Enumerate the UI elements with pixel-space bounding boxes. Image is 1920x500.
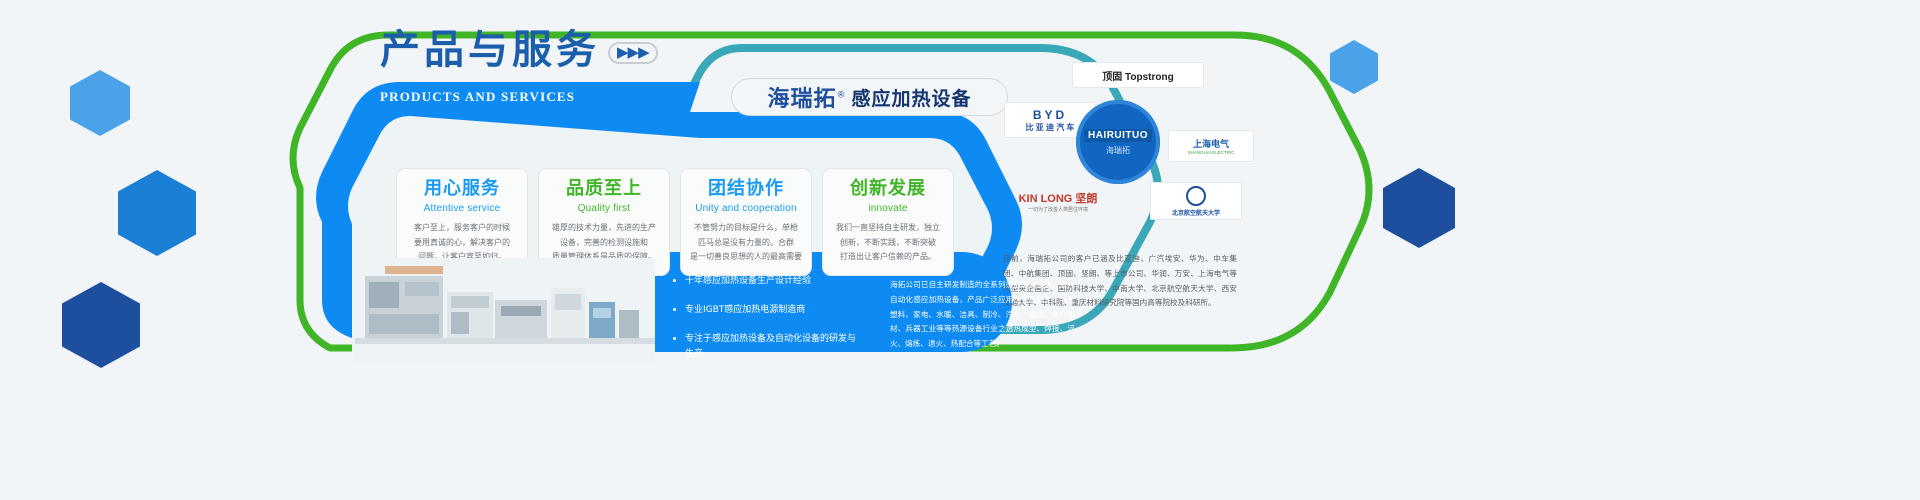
page-title: 产品与服务▶▶▶ <box>380 30 658 70</box>
card-subtitle: Quality first <box>547 203 661 214</box>
feature-card[interactable]: 创新发展 innovate 我们一直坚持自主研发，独立 创新，不断实践，不断突破… <box>822 168 954 276</box>
card-title: 创新发展 <box>831 179 945 199</box>
logo-hairuituo: HAIRUITUO 海瑞拓 <box>1076 100 1160 184</box>
ribbon-artwork <box>0 0 1920 500</box>
list-item: 专注于感应加热设备及自动化设备的研发与生产 <box>685 330 857 364</box>
page-subtitle-en: PRODUCTS AND SERVICES <box>380 89 575 105</box>
brand-pill: 海瑞拓® 感应加热设备 <box>731 78 1008 116</box>
card-subtitle: Unity and cooperation <box>689 203 803 214</box>
logo-beihang: 北京航空航天大学 <box>1150 182 1242 220</box>
logo-kinlong: KIN LONG 坚朗 一切为了改善人类居住环境 <box>1000 184 1116 218</box>
brand-name: 海瑞拓® <box>767 81 846 113</box>
hairuituo-wordmark: HAIRUITUO <box>1084 129 1152 142</box>
byd-mark: BYD <box>1033 108 1067 122</box>
card-desc: 不管努力的目标是什么，单枪 匹马总是没有力量的。合群 是一切善良思想的人的最高需… <box>689 221 803 265</box>
card-subtitle: innovate <box>831 203 945 214</box>
card-title: 团结协作 <box>689 179 803 199</box>
logo-shanghai-electric: 上海电气 SHANGHAI ELECTRIC <box>1168 130 1254 162</box>
product-scope-paragraph: 海拓公司已自主研发制造的全系列感应加热设备，数控自动化感应加热设备，产品广泛应用… <box>890 278 1075 352</box>
poster-canvas: 产品与服务▶▶▶ PRODUCTS AND SERVICES 海瑞拓® 感应加热… <box>0 0 1920 500</box>
list-item: 专业IGBT感应加热电源制造商 <box>685 301 857 319</box>
list-item: 十年感应加热设备生产设计经验 <box>685 272 857 290</box>
card-title: 用心服务 <box>405 179 519 199</box>
card-title: 品质至上 <box>547 179 661 199</box>
brand-product: 感应加热设备 <box>852 84 972 111</box>
hairuituo-zh: 海瑞拓 <box>1106 145 1130 156</box>
feature-card[interactable]: 团结协作 Unity and cooperation 不管努力的目标是什么，单枪… <box>680 168 812 276</box>
logo-topstrong: 顶固 Topstrong <box>1072 62 1204 88</box>
equipment-photo <box>355 258 655 363</box>
client-logo-wall: 顶固 Topstrong BYD 比 亚 迪 汽 车 上海电气 SHANGHAI… <box>1000 62 1240 242</box>
card-subtitle: Attentive service <box>405 203 519 214</box>
beihang-crest-icon <box>1186 186 1206 206</box>
card-desc: 我们一直坚持自主研发，独立 创新，不断实践，不断突破 打造出让客户信赖的产品。 <box>831 221 945 265</box>
highlight-bullet-list: 十年感应加热设备生产设计经验 专业IGBT感应加热电源制造商 专注于感应加热设备… <box>672 272 857 374</box>
arrows-icon: ▶▶▶ <box>608 42 658 64</box>
page-title-zh: 产品与服务 <box>380 27 600 73</box>
registered-icon: ® <box>837 91 847 101</box>
